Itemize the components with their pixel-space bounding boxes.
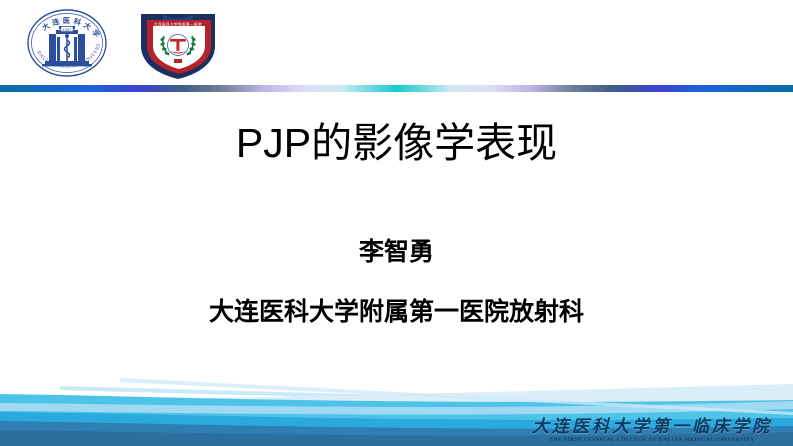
dalian-medical-university-logo: 1947 大连医科大学 DALIAN MEDICAL UNIVERSITY [26, 6, 108, 85]
footer-college-name-en: THE FIRST CLINICAL COLLEGE OF DALIAN MED… [521, 437, 783, 443]
logo-bar: 1947 大连医科大学 DALIAN MEDICAL UNIVERSITY [0, 0, 793, 86]
first-affiliated-hospital-emblem: 大连医科大学附属第一医院 [133, 6, 223, 87]
svg-text:大连医科大学附属第一医院: 大连医科大学附属第一医院 [154, 22, 202, 27]
hospital-shield-icon: 大连医科大学附属第一医院 [133, 6, 223, 82]
gradient-divider [0, 85, 793, 92]
footer-lockup: 大连医科大学第一临床学院 THE FIRST CLINICAL COLLEGE … [521, 418, 783, 443]
affiliation-text: 大连医科大学附属第一医院放射科 [0, 299, 793, 327]
svg-text:1947: 1947 [63, 27, 73, 32]
presentation-slide: 1947 大连医科大学 DALIAN MEDICAL UNIVERSITY [0, 0, 793, 446]
university-seal-icon: 1947 大连医科大学 DALIAN MEDICAL UNIVERSITY [26, 6, 108, 80]
footer-college-name-cn: 大连医科大学第一临床学院 [521, 418, 783, 436]
page-title: PJP的影像学表现 [0, 121, 793, 166]
author-name: 李智勇 [0, 239, 793, 267]
